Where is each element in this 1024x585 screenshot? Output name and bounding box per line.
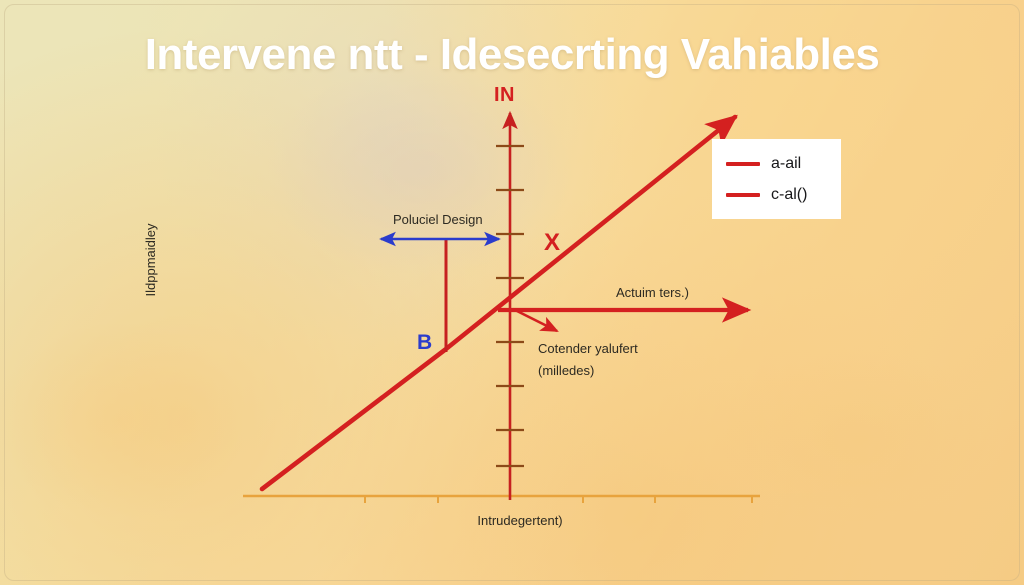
y-axis-label: Ildppmaidley bbox=[143, 195, 158, 325]
chart-canvas: Intervene ntt - Idesecrting Vahiables bbox=[0, 0, 1024, 585]
x-axis-label: Intrudegertent) bbox=[340, 513, 700, 528]
annotation-design-span: Poluciel Design bbox=[393, 212, 483, 227]
origin-callout-arrow bbox=[513, 309, 557, 331]
legend-swatch-icon bbox=[726, 162, 760, 166]
annotation-origin-line-2: (milledes) bbox=[538, 363, 594, 378]
annotation-origin-line-1: Cotender yalufert bbox=[538, 341, 638, 356]
legend-item-1: c-al() bbox=[726, 186, 841, 204]
annotation-right-arrow: Actuim ters.) bbox=[616, 285, 689, 300]
legend-label-1: c-al() bbox=[771, 186, 807, 204]
series-line-a-ail bbox=[262, 117, 735, 489]
marker-label-b: B bbox=[417, 331, 432, 355]
legend-swatch-icon bbox=[726, 193, 760, 197]
legend-label-0: a-ail bbox=[771, 155, 801, 173]
marker-label-x: X bbox=[544, 229, 560, 257]
y-axis-top-label: IN bbox=[494, 84, 515, 107]
legend: a-ail c-al() bbox=[712, 139, 841, 219]
x-axis bbox=[243, 496, 760, 503]
legend-item-0: a-ail bbox=[726, 155, 841, 173]
